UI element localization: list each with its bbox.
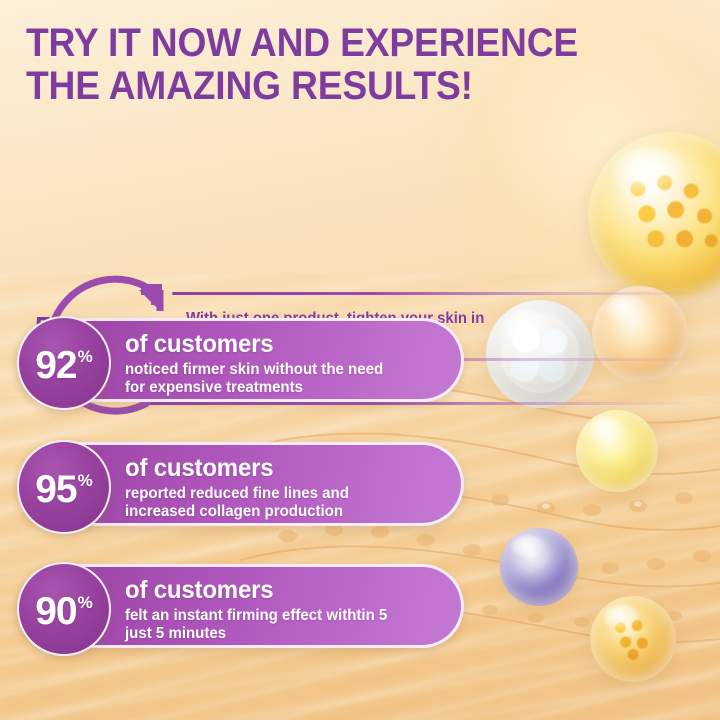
timing-divider-bottom [148, 402, 700, 405]
stat-subtitle: noticed firmer skin without the need for… [125, 361, 435, 397]
headline-line-1: TRY IT NOW AND EXPERIENCE [26, 22, 584, 65]
stat-pill: 90 % of customers felt an instant firmin… [18, 564, 464, 648]
timing-divider-top [172, 292, 700, 295]
stat-percent-value: 92 [35, 346, 76, 385]
stat-title: of customers [125, 455, 432, 482]
stat-percent-value: 90 [35, 592, 76, 631]
headline-line-2: THE AMAZING RESULTS! [26, 65, 584, 108]
percent-symbol: % [78, 594, 93, 611]
stat-text: of customers noticed firmer skin without… [125, 331, 445, 397]
stat-subtitle: felt an instant firming effect withtin 5… [125, 607, 435, 643]
promotional-infographic: TRY IT NOW AND EXPERIENCE THE AMAZING RE… [0, 0, 720, 720]
stat-text: of customers reported reduced fine lines… [125, 455, 445, 521]
stat-text: of customers felt an instant firming eff… [125, 577, 445, 643]
stat-pill: 92 % of customers noticed firmer skin wi… [18, 318, 464, 402]
stat-title: of customers [125, 331, 432, 358]
stat-subtitle-line-2: increased collagen production [125, 503, 435, 521]
page-title: TRY IT NOW AND EXPERIENCE THE AMAZING RE… [26, 22, 584, 108]
stat-pill: 95 % of customers reported reduced fine … [18, 442, 464, 526]
sphere-violet [500, 528, 578, 606]
stat-subtitle-line-2: just 5 minutes [125, 625, 435, 643]
stat-badge: 90 % [17, 562, 111, 656]
stat-badge: 92 % [17, 316, 111, 410]
bubble-sphere-silver [486, 300, 594, 408]
honeycomb-sphere-small [590, 596, 676, 682]
stat-subtitle-line-2: for expensive treatments [125, 379, 435, 397]
stat-subtitle: reported reduced fine lines and increase… [125, 485, 435, 521]
stat-percent-value: 95 [35, 470, 76, 509]
sphere-yellow [576, 410, 658, 492]
stat-badge: 95 % [17, 440, 111, 534]
percent-symbol: % [78, 348, 93, 365]
stat-subtitle-line-1: noticed firmer skin without the need [125, 361, 435, 379]
percent-symbol: % [78, 472, 93, 489]
timing-section: 5 MINUTES With just one product, tighten… [0, 132, 720, 292]
stat-subtitle-line-1: felt an instant firming effect withtin 5 [125, 607, 435, 625]
stat-subtitle-line-1: reported reduced fine lines and [125, 485, 435, 503]
stat-title: of customers [125, 577, 432, 604]
sphere-peach [592, 286, 688, 382]
